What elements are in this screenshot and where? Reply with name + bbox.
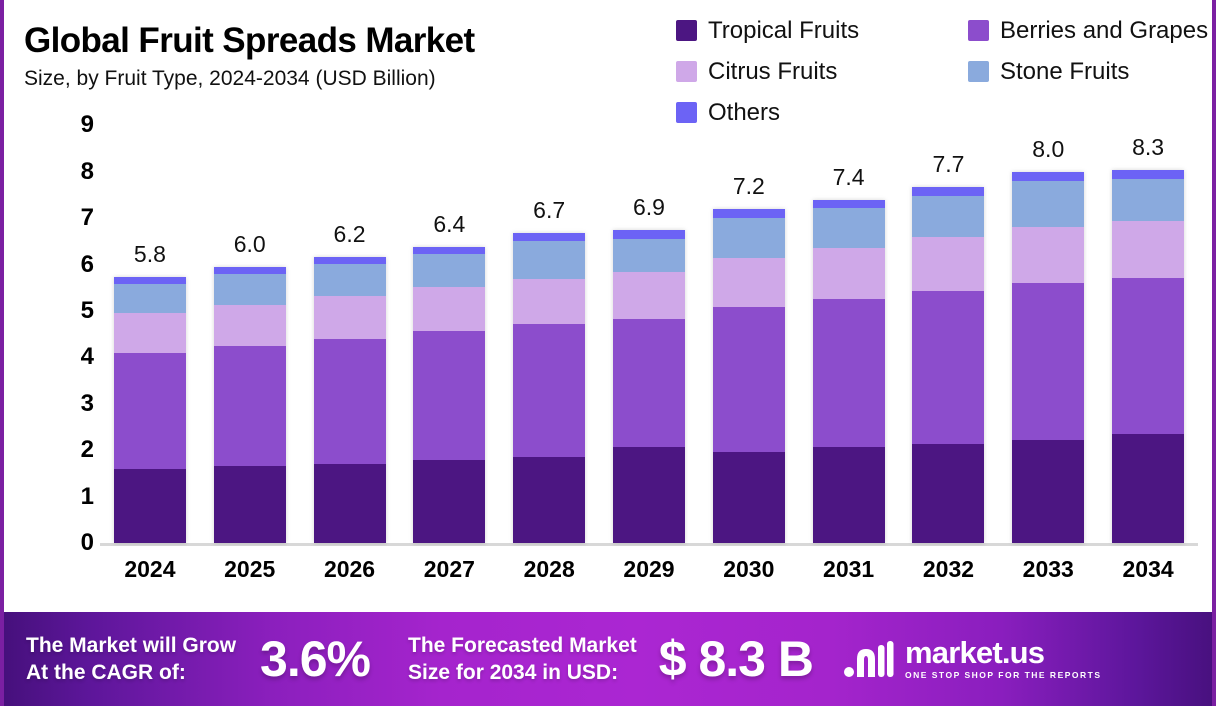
bar-total-label: 6.2: [300, 221, 400, 247]
x-tick-label: 2027: [399, 552, 499, 586]
bar-segment-berries-and-grapes[interactable]: [1012, 283, 1084, 440]
bar-total-label: 8.3: [1098, 134, 1198, 160]
bar-segment-tropical-fruits[interactable]: [912, 444, 984, 543]
y-tick-label: 2: [50, 438, 94, 462]
cagr-value: 3.6%: [260, 632, 370, 686]
bar-segment-others[interactable]: [912, 187, 984, 196]
forecast-value: $ 8.3 B: [659, 632, 813, 686]
bar-total-label: 5.8: [100, 241, 200, 267]
bar-total-label: 8.0: [998, 136, 1098, 162]
bar-stack: [214, 267, 286, 543]
bar-group[interactable]: 7.2: [713, 209, 785, 543]
cagr-label-line2: At the CAGR of:: [26, 659, 236, 686]
bar-segment-stone-fruits[interactable]: [513, 241, 585, 279]
bar-segment-others[interactable]: [314, 257, 386, 264]
bar-segment-others[interactable]: [813, 200, 885, 209]
legend-label: Citrus Fruits: [708, 58, 837, 86]
legend-label: Berries and Grapes: [1000, 17, 1208, 45]
forecast-label-line1: The Forecasted Market: [408, 632, 637, 659]
bar-stack: [713, 209, 785, 543]
bar-segment-berries-and-grapes[interactable]: [513, 324, 585, 457]
legend-swatch-icon: [676, 61, 697, 82]
bar-segment-tropical-fruits[interactable]: [613, 447, 685, 544]
bar-stack: [1012, 172, 1084, 543]
bar-group[interactable]: 7.7: [912, 187, 984, 543]
bar-group[interactable]: 6.9: [613, 230, 685, 543]
bar-segment-stone-fruits[interactable]: [314, 264, 386, 296]
forecast-label: The Forecasted Market Size for 2034 in U…: [408, 632, 637, 686]
y-axis: 0123456789: [50, 118, 94, 552]
bar-group[interactable]: 8.0: [1012, 172, 1084, 543]
bar-stack: [314, 257, 386, 543]
bar-segment-tropical-fruits[interactable]: [1012, 440, 1084, 543]
bar-segment-berries-and-grapes[interactable]: [1112, 278, 1184, 434]
bar-total-label: 6.9: [599, 194, 699, 220]
bar-total-label: 7.7: [898, 151, 998, 177]
legend-swatch-icon: [676, 20, 697, 41]
bar-segment-berries-and-grapes[interactable]: [613, 319, 685, 447]
bar-segment-citrus-fruits[interactable]: [413, 287, 485, 331]
legend-item-stone-fruits[interactable]: Stone Fruits: [968, 58, 1216, 86]
bar-stack: [413, 247, 485, 543]
page-title: Global Fruit Spreads Market: [24, 20, 475, 62]
x-tick-label: 2024: [100, 552, 200, 586]
logo-name: market.us: [905, 637, 1102, 669]
y-tick-label: 6: [50, 253, 94, 277]
forecast-stat: The Forecasted Market Size for 2034 in U…: [408, 632, 813, 686]
chart-header: Global Fruit Spreads Market Size, by Fru…: [4, 0, 1216, 124]
bar-segment-citrus-fruits[interactable]: [813, 248, 885, 300]
bar-segment-berries-and-grapes[interactable]: [713, 307, 785, 452]
bar-stack: [513, 233, 585, 543]
bar-segment-tropical-fruits[interactable]: [314, 464, 386, 543]
bar-group[interactable]: 6.7: [513, 233, 585, 543]
bar-segment-citrus-fruits[interactable]: [214, 305, 286, 346]
bar-stack: [613, 230, 685, 543]
y-tick-label: 0: [50, 531, 94, 555]
bar-segment-stone-fruits[interactable]: [214, 274, 286, 305]
legend-label: Stone Fruits: [1000, 58, 1129, 86]
bar-segment-citrus-fruits[interactable]: [114, 313, 186, 352]
bar-segment-stone-fruits[interactable]: [1112, 179, 1184, 221]
bar-segment-citrus-fruits[interactable]: [713, 258, 785, 307]
page-subtitle: Size, by Fruit Type, 2024-2034 (USD Bill…: [24, 64, 475, 94]
x-tick-label: 2026: [300, 552, 400, 586]
cagr-label: The Market will Grow At the CAGR of:: [26, 632, 236, 686]
bar-segment-tropical-fruits[interactable]: [813, 447, 885, 544]
bar-group[interactable]: 7.4: [813, 200, 885, 543]
bar-segment-citrus-fruits[interactable]: [912, 237, 984, 291]
bar-segment-stone-fruits[interactable]: [114, 284, 186, 313]
bar-group[interactable]: 6.0: [214, 267, 286, 543]
chart-legend: Tropical FruitsBerries and GrapesCitrus …: [676, 10, 1216, 133]
cagr-label-line1: The Market will Grow: [26, 632, 236, 659]
title-block: Global Fruit Spreads Market Size, by Fru…: [24, 20, 475, 94]
bar-segment-others[interactable]: [713, 209, 785, 218]
legend-swatch-icon: [968, 20, 989, 41]
forecast-label-line2: Size for 2034 in USD:: [408, 659, 637, 686]
x-tick-label: 2030: [699, 552, 799, 586]
legend-label: Tropical Fruits: [708, 17, 859, 45]
bar-group[interactable]: 6.4: [413, 247, 485, 543]
bar-segment-berries-and-grapes[interactable]: [314, 339, 386, 464]
bar-segment-berries-and-grapes[interactable]: [114, 353, 186, 469]
bar-total-label: 7.2: [699, 173, 799, 199]
bar-segment-berries-and-grapes[interactable]: [413, 331, 485, 460]
bar-segment-tropical-fruits[interactable]: [713, 452, 785, 543]
bar-segment-tropical-fruits[interactable]: [114, 469, 186, 543]
y-tick-label: 3: [50, 392, 94, 416]
legend-item-berries-and-grapes[interactable]: Berries and Grapes: [968, 17, 1216, 45]
plot-area: 0123456789 5.86.06.26.46.76.97.27.47.78.…: [4, 118, 1216, 552]
y-tick-label: 5: [50, 299, 94, 323]
bar-total-label: 7.4: [799, 164, 899, 190]
x-tick-label: 2025: [200, 552, 300, 586]
bar-group[interactable]: 8.3: [1112, 170, 1184, 543]
bar-segment-berries-and-grapes[interactable]: [214, 346, 286, 467]
y-tick-label: 1: [50, 485, 94, 509]
bar-segment-others[interactable]: [114, 277, 186, 284]
bar-segment-tropical-fruits[interactable]: [214, 466, 286, 543]
legend-item-citrus-fruits[interactable]: Citrus Fruits: [676, 58, 968, 86]
bar-group[interactable]: 5.8: [114, 277, 186, 543]
bar-total-label: 6.0: [200, 231, 300, 257]
bar-segment-others[interactable]: [1012, 172, 1084, 181]
summary-banner: The Market will Grow At the CAGR of: 3.6…: [4, 612, 1216, 706]
bar-segment-tropical-fruits[interactable]: [513, 457, 585, 543]
cagr-stat: The Market will Grow At the CAGR of: 3.6…: [26, 632, 370, 686]
bar-segment-berries-and-grapes[interactable]: [912, 291, 984, 444]
bar-total-label: 6.7: [499, 197, 599, 223]
x-tick-label: 2032: [898, 552, 998, 586]
legend-item-tropical-fruits[interactable]: Tropical Fruits: [676, 17, 968, 45]
bar-segment-citrus-fruits[interactable]: [1012, 227, 1084, 284]
bar-segment-stone-fruits[interactable]: [413, 254, 485, 287]
bar-segment-citrus-fruits[interactable]: [613, 272, 685, 319]
bar-total-label: 6.4: [399, 211, 499, 237]
y-tick-label: 8: [50, 160, 94, 184]
bar-segment-stone-fruits[interactable]: [713, 218, 785, 258]
x-axis: 2024202520262027202820292030203120322033…: [100, 552, 1198, 596]
bar-segment-others[interactable]: [613, 230, 685, 239]
bar-stack: [1112, 170, 1184, 543]
x-tick-label: 2034: [1098, 552, 1198, 586]
logo-text: market.us ONE STOP SHOP FOR THE REPORTS: [905, 637, 1102, 681]
bar-series-container: 5.86.06.26.46.76.97.27.47.78.08.3: [100, 118, 1198, 543]
bar-segment-others[interactable]: [413, 247, 485, 255]
bar-segment-stone-fruits[interactable]: [1012, 181, 1084, 227]
legend-swatch-icon: [968, 61, 989, 82]
bar-segment-stone-fruits[interactable]: [813, 208, 885, 247]
y-tick-label: 7: [50, 206, 94, 230]
logo-tagline: ONE STOP SHOP FOR THE REPORTS: [905, 669, 1102, 681]
bar-stack: [813, 200, 885, 543]
infographic-root: Global Fruit Spreads Market Size, by Fru…: [0, 0, 1216, 706]
bar-stack: [114, 277, 186, 543]
bar-segment-others[interactable]: [513, 233, 585, 241]
bar-segment-citrus-fruits[interactable]: [314, 296, 386, 339]
logo-mark-icon: [843, 639, 895, 679]
y-tick-label: 9: [50, 113, 94, 137]
x-axis-line: [100, 543, 1198, 546]
bar-segment-citrus-fruits[interactable]: [1112, 221, 1184, 278]
x-tick-label: 2028: [499, 552, 599, 586]
bar-segment-others[interactable]: [214, 267, 286, 274]
bar-segment-stone-fruits[interactable]: [613, 239, 685, 272]
x-tick-label: 2029: [599, 552, 699, 586]
bar-segment-others[interactable]: [1112, 170, 1184, 179]
y-tick-label: 4: [50, 345, 94, 369]
bar-segment-berries-and-grapes[interactable]: [813, 299, 885, 446]
bar-group[interactable]: 6.2: [314, 257, 386, 543]
market-us-logo[interactable]: market.us ONE STOP SHOP FOR THE REPORTS: [843, 637, 1102, 681]
bar-segment-tropical-fruits[interactable]: [413, 460, 485, 543]
x-tick-label: 2033: [998, 552, 1098, 586]
bar-stack: [912, 187, 984, 543]
bar-segment-tropical-fruits[interactable]: [1112, 434, 1184, 543]
bar-segment-citrus-fruits[interactable]: [513, 279, 585, 324]
bar-segment-stone-fruits[interactable]: [912, 196, 984, 237]
x-tick-label: 2031: [799, 552, 899, 586]
